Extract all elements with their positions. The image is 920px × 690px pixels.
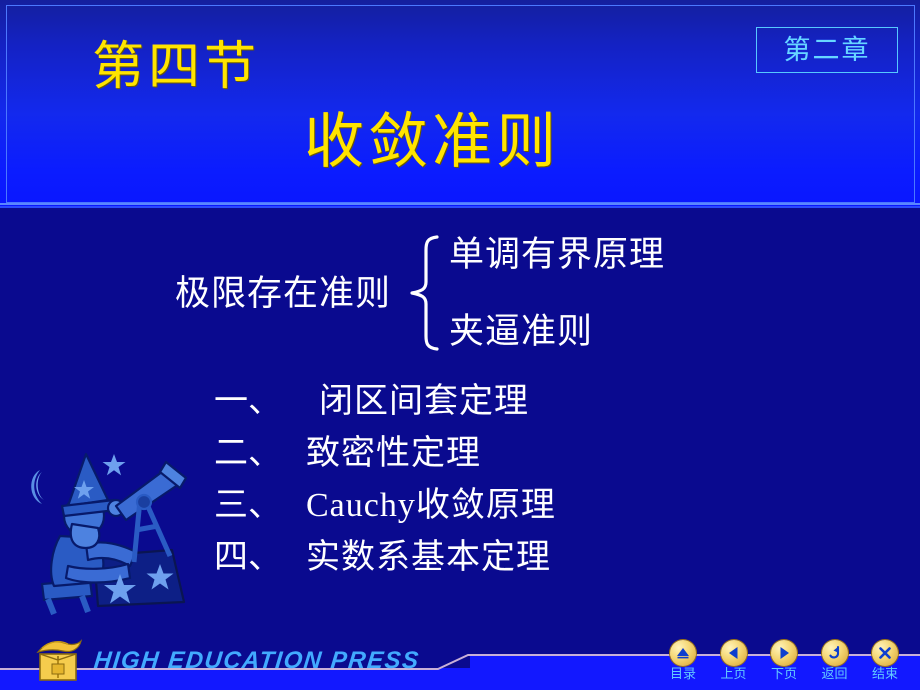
outline-item-number: 二、 — [214, 437, 306, 471]
outline-item: 四、 实数系基本定理 — [214, 541, 774, 593]
outline-item-number: 一、 — [214, 385, 319, 419]
curly-brace-icon — [405, 234, 443, 352]
slide-title-line-2: 收敛准则 — [304, 112, 560, 172]
chapter-badge: 第二章 — [756, 27, 898, 73]
nav-button-prev-page[interactable]: 上页 — [713, 640, 755, 680]
triangle-left-icon[interactable] — [721, 640, 747, 666]
close-x-icon[interactable] — [872, 640, 898, 666]
outline-item-text: 致密性定理 — [306, 437, 481, 471]
nav-label-end[interactable]: 结束 — [872, 667, 898, 680]
outline-item: 一、 闭区间套定理 — [214, 385, 774, 437]
nav-button-end[interactable]: 结束 — [864, 640, 906, 680]
chapter-badge-label: 第二章 — [784, 37, 871, 64]
criteria-group-label: 极限存在准则 — [175, 276, 391, 311]
outline-item-text: 实数系基本定理 — [306, 541, 551, 575]
nav-button-back[interactable]: 返回 — [814, 640, 856, 680]
presentation-slide: 第二章 第四节 收敛准则 极限存在准则 单调有界原理 夹逼准则 一、 闭区间套定… — [0, 0, 920, 690]
nav-label-contents[interactable]: 目录 — [670, 667, 696, 680]
return-arrow-icon[interactable] — [822, 640, 848, 666]
navigation-bar[interactable]: 目录 上页 下页 返回 — [662, 640, 906, 688]
press-logo: HIGH EDUCATION PRESS — [32, 637, 420, 685]
nav-button-contents[interactable]: 目录 — [662, 640, 704, 680]
criteria-item: 单调有界原理 — [449, 237, 665, 272]
nav-label-back[interactable]: 返回 — [821, 667, 847, 680]
limit-criteria-group: 极限存在准则 单调有界原理 夹逼准则 — [175, 228, 745, 358]
triangle-right-icon[interactable] — [771, 640, 797, 666]
slide-header-band: 第二章 第四节 收敛准则 — [0, 0, 920, 208]
open-book-logo-icon — [32, 638, 84, 684]
triangle-up-icon[interactable] — [670, 640, 696, 666]
outline-item-text: 闭区间套定理 — [319, 385, 529, 419]
nav-label-prev-page[interactable]: 上页 — [720, 667, 746, 680]
outline-item-number: 三、 — [214, 489, 306, 523]
slide-title-line-1: 第四节 — [92, 42, 260, 94]
nav-button-next-page[interactable]: 下页 — [763, 640, 805, 680]
outline-item: 三、 Cauchy收敛原理 — [214, 489, 774, 541]
outline-item: 二、 致密性定理 — [214, 437, 774, 489]
wizard-with-telescope-icon — [24, 444, 192, 616]
criteria-item: 夹逼准则 — [449, 314, 665, 349]
press-name-label: HIGH EDUCATION PRESS — [93, 649, 421, 673]
outline-list: 一、 闭区间套定理 二、 致密性定理 三、 Cauchy收敛原理 四、 实数系基… — [214, 385, 774, 593]
criteria-items: 单调有界原理 夹逼准则 — [449, 237, 665, 349]
outline-item-number: 四、 — [214, 541, 306, 575]
nav-label-next-page[interactable]: 下页 — [771, 667, 797, 680]
outline-item-text: Cauchy收敛原理 — [306, 489, 556, 523]
header-bottom-rule — [0, 203, 920, 205]
